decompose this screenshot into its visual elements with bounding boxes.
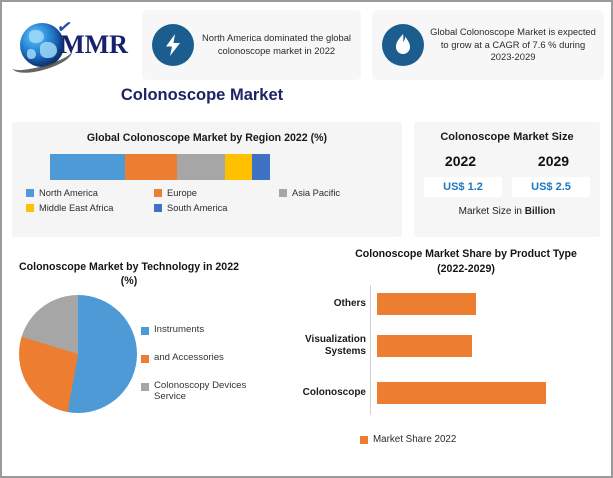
brand-logo: ✓ MMR <box>10 10 138 80</box>
legend-swatch-icon <box>279 189 287 197</box>
region-segment-europe <box>125 154 177 180</box>
technology-legend-label: and Accessories <box>154 352 224 363</box>
bar-fill-visualization-systems <box>377 335 472 357</box>
region-segment-south-america <box>252 154 270 180</box>
legend-swatch-icon <box>26 204 34 212</box>
market-size-value-2022: US$ 1.2 <box>424 177 502 197</box>
legend-swatch-icon <box>360 436 368 444</box>
region-legend-item: South America <box>154 203 227 213</box>
bar-label-visualization-systems: Visualization Systems <box>272 334 372 359</box>
region-segment-north-america <box>50 154 125 180</box>
region-legend-label: Middle East Africa <box>39 203 113 213</box>
technology-legend-item: and Accessories <box>141 352 266 363</box>
header-card-region: North America dominated the global colon… <box>142 10 361 80</box>
legend-swatch-icon <box>141 355 149 363</box>
bar-label-others: Others <box>272 298 372 311</box>
brand-name: ✓ MMR <box>60 30 128 60</box>
header-card-cagr: Global Colonoscope Market is expected to… <box>372 10 604 80</box>
market-size-footer: Market Size in Billion <box>414 206 600 217</box>
region-legend-item: Europe <box>154 188 279 198</box>
region-legend-label: Europe <box>167 188 197 198</box>
region-stacked-bar <box>50 154 277 180</box>
market-size-footer-prefix: Market Size in <box>459 206 525 217</box>
product-type-legend: Market Share 2022 <box>360 434 456 445</box>
product-type-legend-label: Market Share 2022 <box>373 434 456 445</box>
technology-legend-item: Instruments <box>141 324 266 335</box>
region-legend-label: Asia Pacific <box>292 188 340 198</box>
region-legend-label: South America <box>167 203 227 213</box>
legend-swatch-icon <box>26 189 34 197</box>
region-segment-asia-pacific <box>177 154 225 180</box>
legend-swatch-icon <box>141 383 149 391</box>
market-size-values: US$ 1.2 US$ 2.5 <box>414 177 600 197</box>
technology-legend-label: Instruments <box>154 324 204 335</box>
region-chart-panel: Global Colonoscope Market by Region 2022… <box>12 122 402 237</box>
market-size-panel: Colonoscope Market Size 2022 2029 US$ 1.… <box>414 122 600 237</box>
technology-chart-title: Colonoscope Market by Technology in 2022… <box>14 260 244 289</box>
legend-swatch-icon <box>154 189 162 197</box>
bar-fill-colonoscope <box>377 382 546 404</box>
region-chart-title: Global Colonoscope Market by Region 2022… <box>12 122 402 144</box>
legend-swatch-icon <box>141 327 149 335</box>
bar-row: Visualization Systems <box>272 333 602 359</box>
bar-fill-others <box>377 293 476 315</box>
product-type-chart-title: Colonoscope Market Share by Product Type… <box>342 247 590 277</box>
lightning-bolt-icon <box>152 24 194 66</box>
product-type-bar-chart: Others Visualization Systems Colonoscope <box>272 285 602 420</box>
market-size-year-2029: 2029 <box>507 153 600 169</box>
header: ✓ MMR North America dominated the global… <box>10 8 605 82</box>
bar-row: Others <box>272 291 602 317</box>
market-size-title: Colonoscope Market Size <box>414 122 600 143</box>
technology-legend-label: Colonoscopy Devices Service <box>154 380 266 402</box>
market-size-footer-unit: Billion <box>525 206 556 217</box>
header-card-region-text: North America dominated the global colon… <box>200 32 353 58</box>
region-legend-label: North America <box>39 188 98 198</box>
technology-pie-chart <box>19 295 137 413</box>
region-legend: North America Europe Asia Pacific Middle… <box>26 188 396 218</box>
flame-icon <box>382 24 424 66</box>
market-size-year-2022: 2022 <box>414 153 507 169</box>
legend-swatch-icon <box>154 204 162 212</box>
region-legend-item: North America <box>26 188 154 198</box>
infographic-canvas: ✓ MMR North America dominated the global… <box>0 0 613 478</box>
region-legend-item: Middle East Africa <box>26 203 154 213</box>
header-card-cagr-text: Global Colonoscope Market is expected to… <box>430 26 596 65</box>
bar-row: Colonoscope <box>272 380 602 406</box>
technology-legend-item: Colonoscopy Devices Service <box>141 380 266 402</box>
region-legend-item: Asia Pacific <box>279 188 340 198</box>
market-size-value-2029: US$ 2.5 <box>512 177 590 197</box>
market-size-years: 2022 2029 <box>414 153 600 169</box>
page-title: Colonoscope Market <box>2 86 402 105</box>
bar-label-colonoscope: Colonoscope <box>272 387 372 400</box>
region-segment-middle-east-africa <box>225 154 252 180</box>
technology-legend: Instruments and Accessories Colonoscopy … <box>141 324 266 419</box>
